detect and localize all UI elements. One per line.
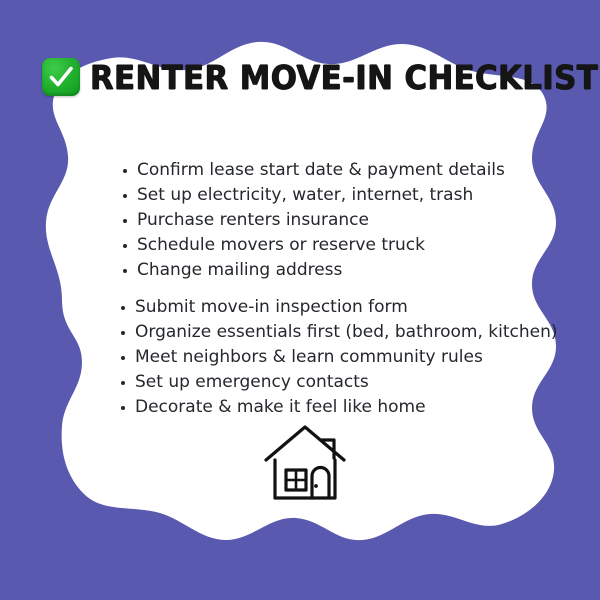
list-item: Meet neighbors & learn community rules xyxy=(118,345,560,370)
checklist-group-secondary: Submit move-in inspection form Organize … xyxy=(118,295,560,420)
list-item: Change mailing address xyxy=(120,258,560,283)
checklist-group-primary: Confirm lease start date & payment detai… xyxy=(120,158,560,283)
page-title: RENTER MOVE-IN CHECKLIST xyxy=(90,61,598,94)
house-icon xyxy=(262,420,348,506)
list-item: Organize essentials first (bed, bathroom… xyxy=(118,320,560,345)
poster-header: RENTER MOVE-IN CHECKLIST xyxy=(42,58,600,96)
list-item: Decorate & make it feel like home xyxy=(118,395,560,420)
list-item: Set up electricity, water, internet, tra… xyxy=(120,183,560,208)
list-item: Purchase renters insurance xyxy=(120,208,560,233)
checklist-body: Confirm lease start date & payment detai… xyxy=(120,158,560,420)
list-item: Set up emergency contacts xyxy=(118,370,560,395)
checklist-poster: RENTER MOVE-IN CHECKLIST Confirm lease s… xyxy=(0,0,600,600)
poster-content: RENTER MOVE-IN CHECKLIST Confirm lease s… xyxy=(0,0,600,600)
list-item: Schedule movers or reserve truck xyxy=(120,233,560,258)
white-check-mark-icon xyxy=(42,58,80,96)
list-item: Submit move-in inspection form xyxy=(118,295,560,320)
list-item: Confirm lease start date & payment detai… xyxy=(120,158,560,183)
